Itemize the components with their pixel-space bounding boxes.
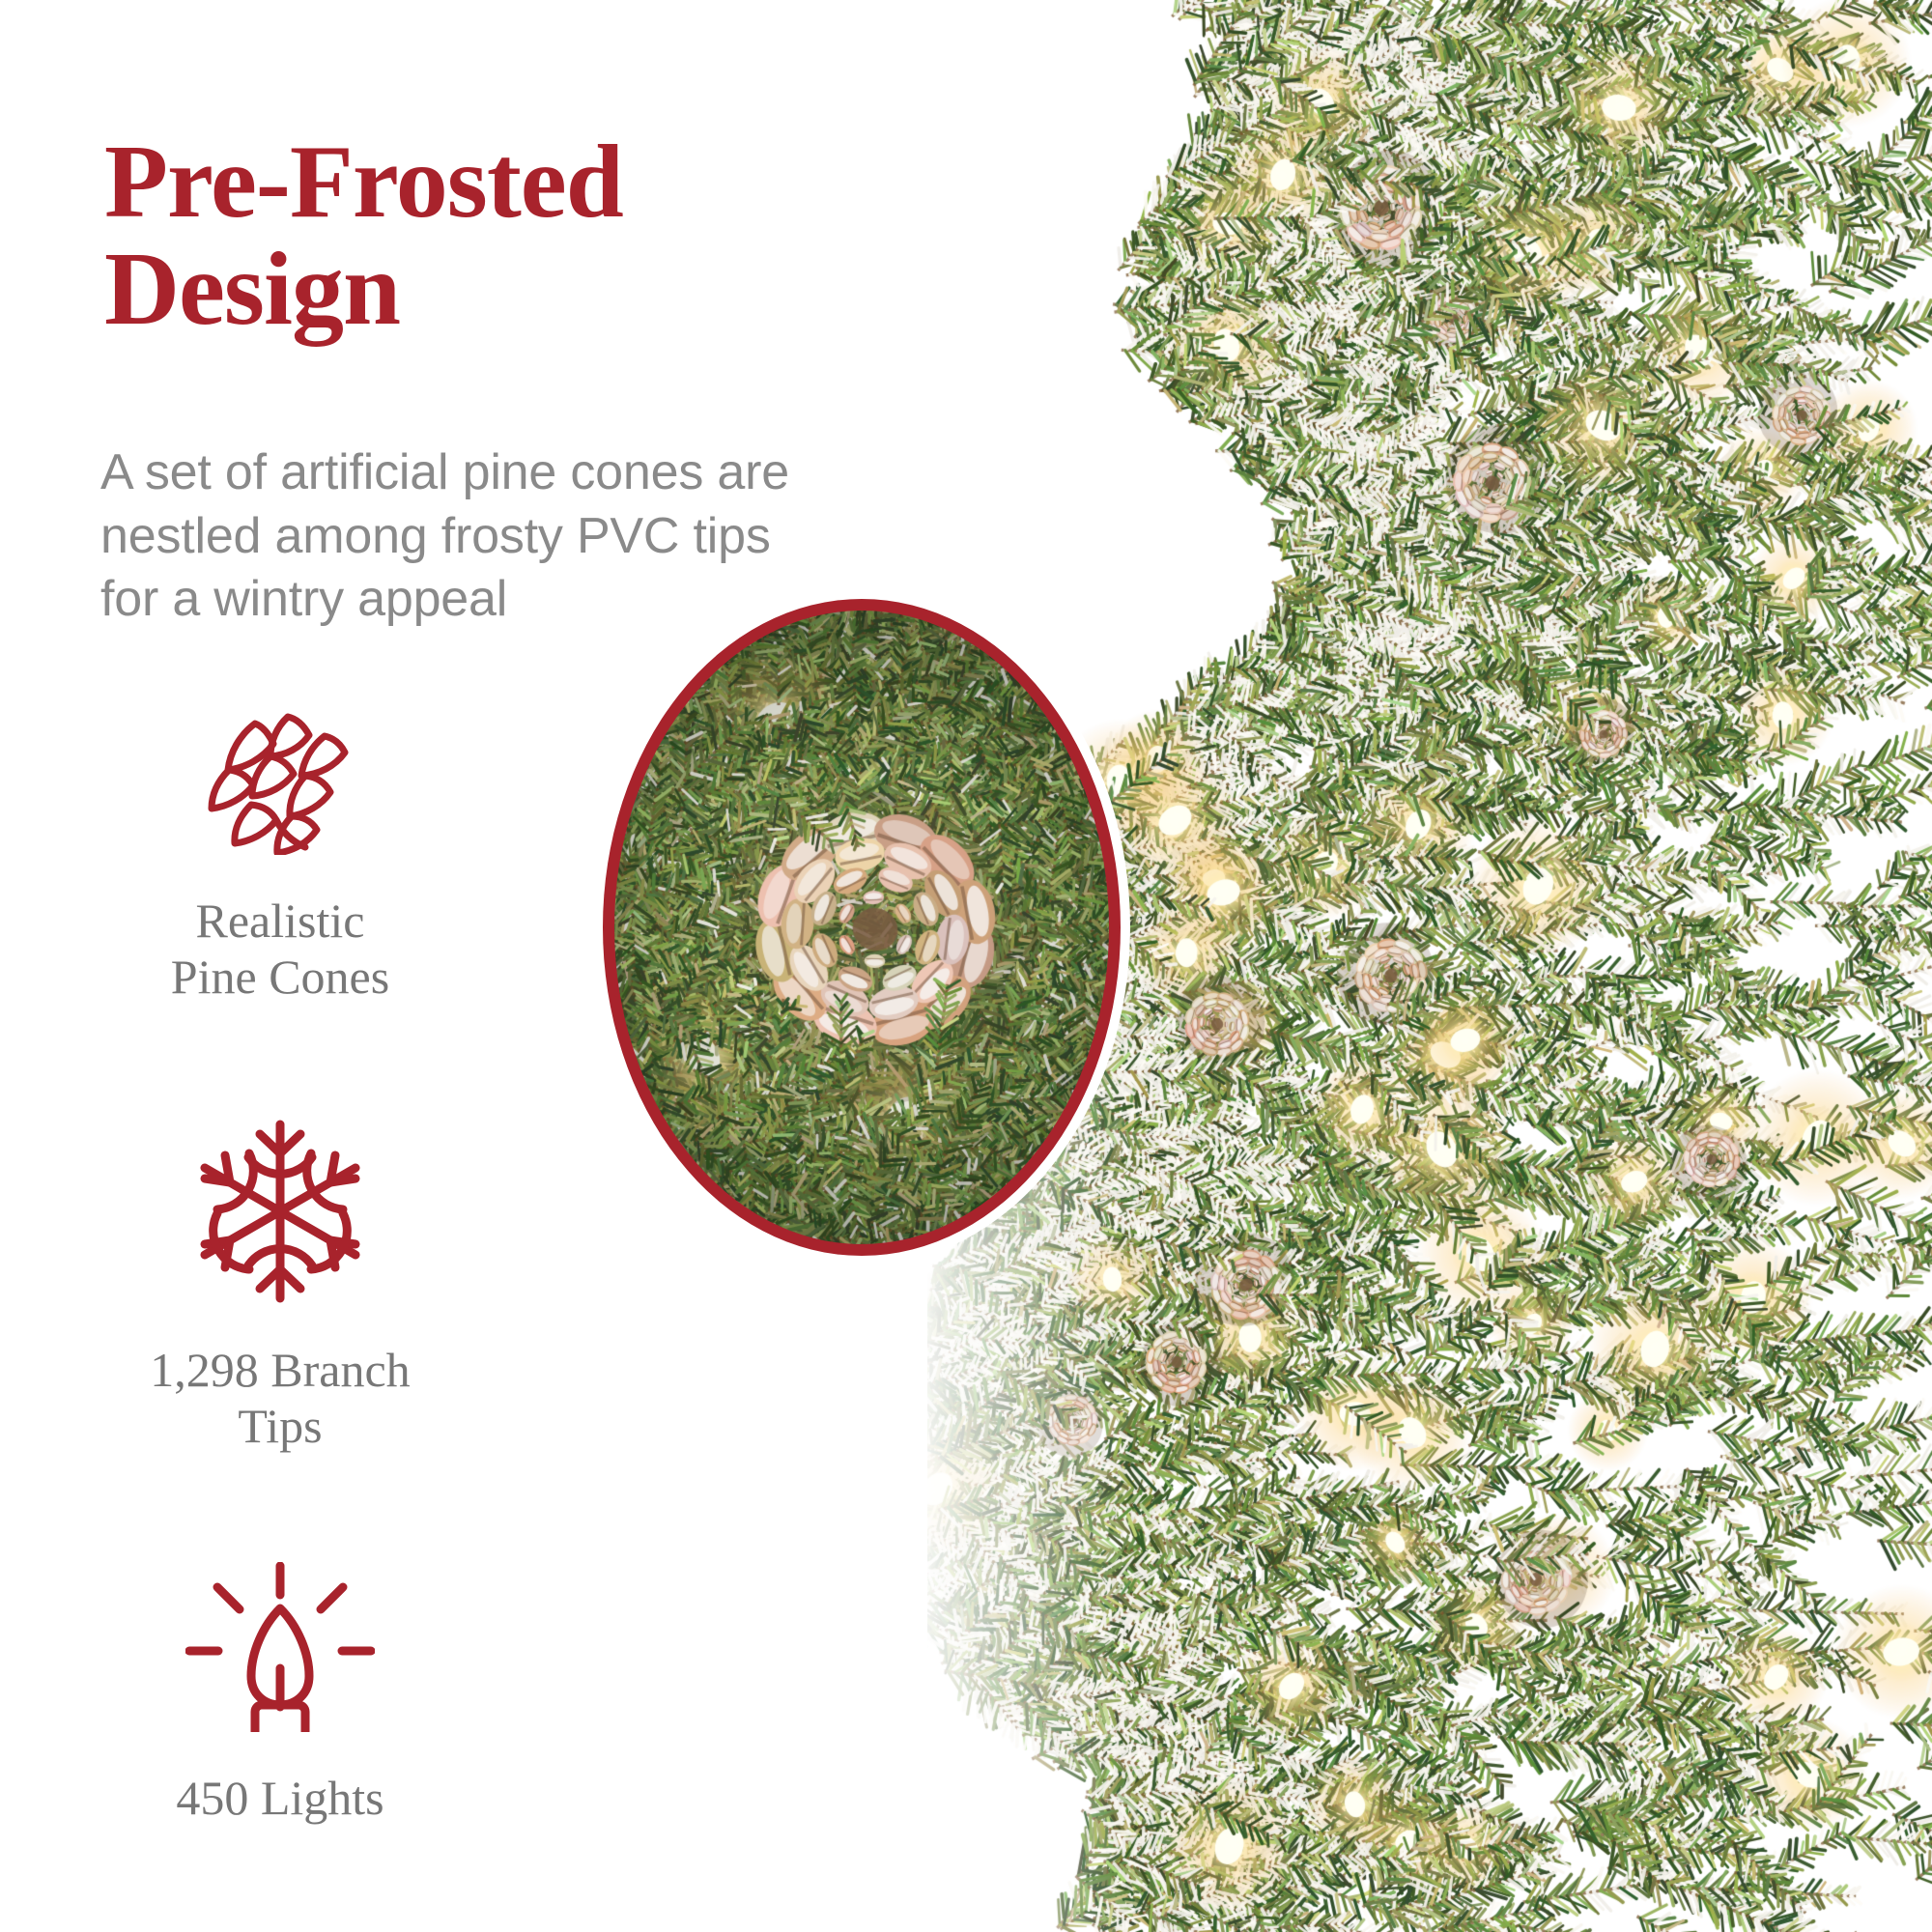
feature-label: 450 Lights — [176, 1770, 384, 1826]
feature-label-line-2: Tips — [238, 1399, 322, 1453]
feature-label-line-1: 450 Lights — [176, 1771, 384, 1825]
pine-cone-closeup-photo — [614, 611, 1109, 1244]
page-title: Pre-Frosted Design — [104, 129, 858, 342]
feature-list: Realistic Pine Cones — [29, 710, 531, 1826]
pine-cone-closeup-inset — [593, 589, 1130, 1265]
feature-label-line-2: Pine Cones — [171, 950, 389, 1004]
feature-label: 1,298 Branch Tips — [150, 1342, 410, 1454]
light-bulb-icon — [185, 1562, 375, 1737]
headline-line-1: Pre-Frosted — [104, 125, 623, 240]
inset-photo-clip — [614, 611, 1109, 1244]
feature-item-realistic-pine-cones: Realistic Pine Cones — [29, 710, 531, 1005]
feature-label-line-1: 1,298 Branch — [150, 1343, 410, 1397]
snowflake-icon — [190, 1119, 370, 1309]
feature-item-lights: 450 Lights — [29, 1562, 531, 1826]
feature-item-branch-tips: 1,298 Branch Tips — [29, 1119, 531, 1454]
pine-cone-icon — [199, 710, 361, 860]
feature-label-line-1: Realistic — [196, 894, 365, 948]
feature-label: Realistic Pine Cones — [171, 893, 389, 1005]
headline-line-2: Design — [104, 232, 400, 347]
